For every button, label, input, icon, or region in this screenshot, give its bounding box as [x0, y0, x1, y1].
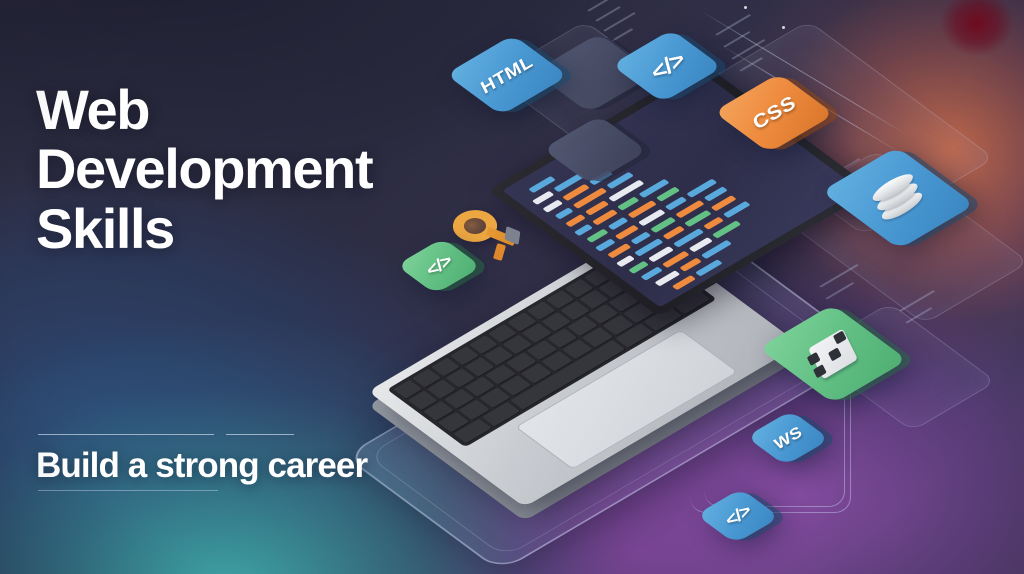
code-bar: [595, 239, 616, 252]
code-icon: </>: [722, 501, 753, 532]
badge-css-label: CSS: [749, 91, 799, 135]
code-bar: [628, 261, 649, 274]
title-line-1: Web: [36, 80, 576, 140]
code-bar: [574, 224, 593, 236]
code-bar: [630, 232, 651, 245]
divider-top: [36, 430, 556, 440]
code-bar: [616, 255, 635, 267]
badge-database[interactable]: [821, 147, 975, 249]
divider-segment-under: [38, 490, 218, 491]
subtitle: Build a strong career: [36, 446, 556, 486]
subtitle-block: Build a strong career: [36, 430, 556, 496]
divider-bottom: [36, 486, 556, 496]
database-icon: [870, 169, 927, 226]
divider-segment-short: [226, 434, 294, 435]
code-icon: </>: [646, 45, 688, 86]
title-line-2: Development: [36, 139, 576, 199]
promo-banner: HTML </> CSS: [0, 0, 1024, 574]
settings-icon: [808, 328, 858, 379]
badge-js-label: WS: [771, 422, 805, 453]
page-title: Web Development Skills: [36, 80, 576, 260]
title-line-3: Skills: [36, 199, 576, 259]
divider-segment-long: [38, 434, 214, 435]
code-bar: [703, 217, 724, 230]
code-bar: [672, 275, 696, 290]
code-bar: [608, 217, 629, 230]
